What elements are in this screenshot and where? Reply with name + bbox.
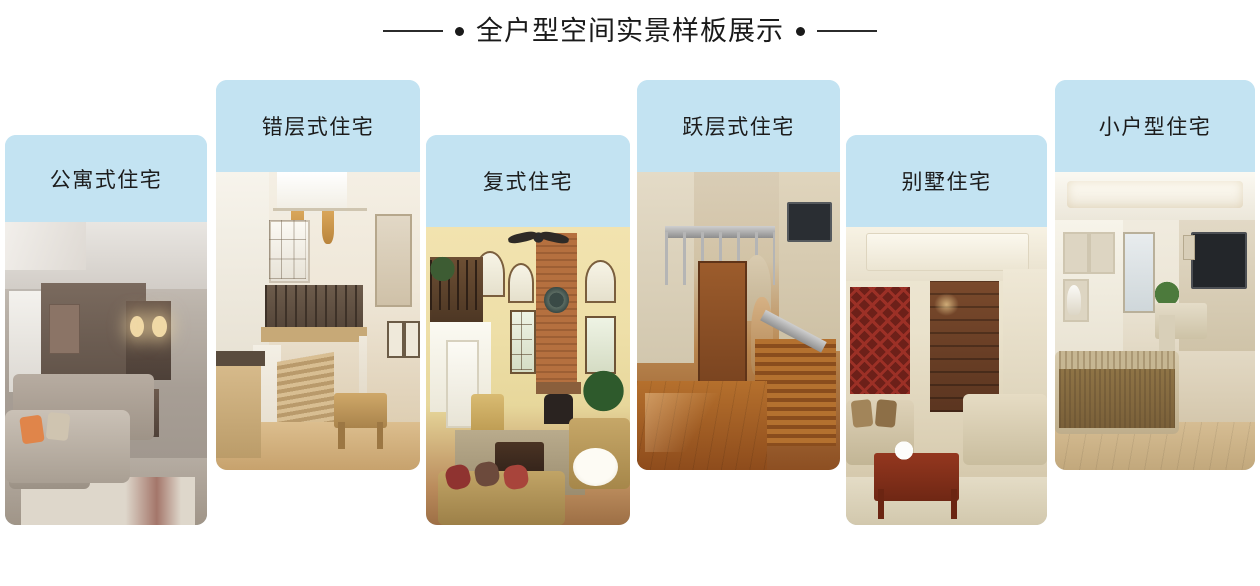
housing-type-card-split-level[interactable]: 错层式住宅 [216,80,420,470]
duplex-great-room-photo [426,227,630,525]
title-dot-left-icon [455,27,464,36]
loft-entry-stairs-photo [637,172,840,470]
housing-type-card-apartment[interactable]: 公寓式住宅 [5,135,207,525]
title-rule-left-icon [383,30,443,32]
section-title-bar: 全户型空间实景样板展示 [0,0,1260,62]
card-header: 小户型住宅 [1055,80,1255,172]
small-apartment-photo [1055,172,1255,470]
housing-type-card-duplex[interactable]: 复式住宅 [426,135,630,525]
title-dot-right-icon [796,27,805,36]
housing-type-card-small-apartment[interactable]: 小户型住宅 [1055,80,1255,470]
housing-type-card-loft[interactable]: 跃层式住宅 [637,80,840,470]
card-label: 跃层式住宅 [682,111,795,141]
title-rule-right-icon [817,30,877,32]
page-title: 全户型空间实景样板展示 [476,16,784,46]
villa-living-room-photo [846,227,1047,525]
split-level-stairs-photo [216,172,420,470]
card-label: 别墅住宅 [902,166,992,196]
apartment-living-room-photo [5,222,207,525]
housing-type-card-villa[interactable]: 别墅住宅 [846,135,1047,525]
card-header: 错层式住宅 [216,80,420,172]
card-header: 公寓式住宅 [5,135,207,222]
card-label: 复式住宅 [483,166,573,196]
card-header: 别墅住宅 [846,135,1047,227]
card-label: 小户型住宅 [1099,111,1212,141]
card-header: 复式住宅 [426,135,630,227]
card-header: 跃层式住宅 [637,80,840,172]
card-label: 错层式住宅 [262,111,375,141]
card-label: 公寓式住宅 [50,164,163,194]
